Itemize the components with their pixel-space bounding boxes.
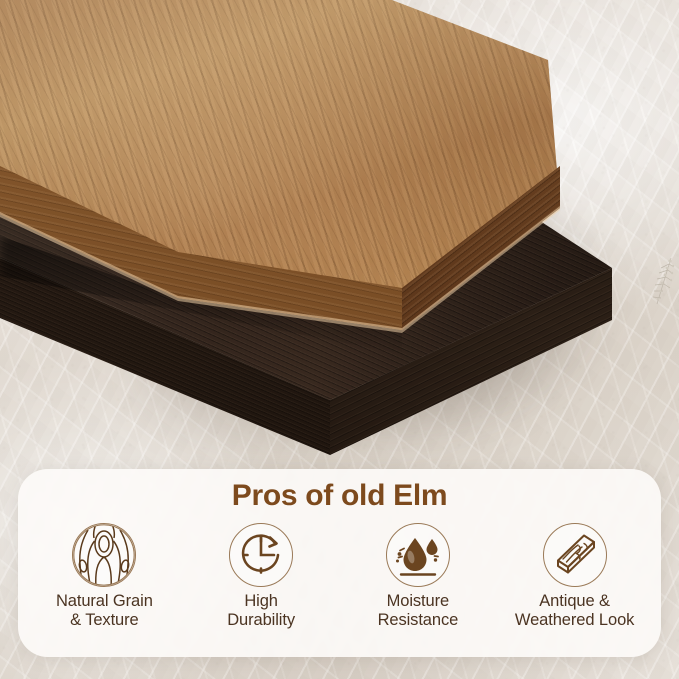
- feature-label: Natural Grain & Texture: [56, 592, 153, 630]
- wood-plank-icon: [543, 523, 607, 587]
- clock-refresh-durability-icon: [229, 523, 293, 587]
- feature-label: Antique & Weathered Look: [515, 592, 634, 630]
- wood-grain-icon: [72, 523, 136, 587]
- feature-item-antique-weathered: Antique & Weathered Look: [496, 523, 653, 630]
- water-droplet-icon: [386, 523, 450, 587]
- feature-item-natural-grain: Natural Grain & Texture: [26, 523, 183, 630]
- feature-label: Moisture Resistance: [378, 592, 459, 630]
- pros-card: Pros of old Elm: [18, 469, 661, 657]
- page-title: Pros of old Elm: [18, 469, 661, 513]
- feature-list: Natural Grain & Texture: [18, 513, 661, 630]
- feature-item-moisture-resistance: Moisture Resistance: [340, 523, 497, 630]
- product-infographic: Pros of old Elm: [0, 0, 679, 679]
- feature-label: High Durability: [227, 592, 295, 630]
- feature-item-high-durability: High Durability: [183, 523, 340, 630]
